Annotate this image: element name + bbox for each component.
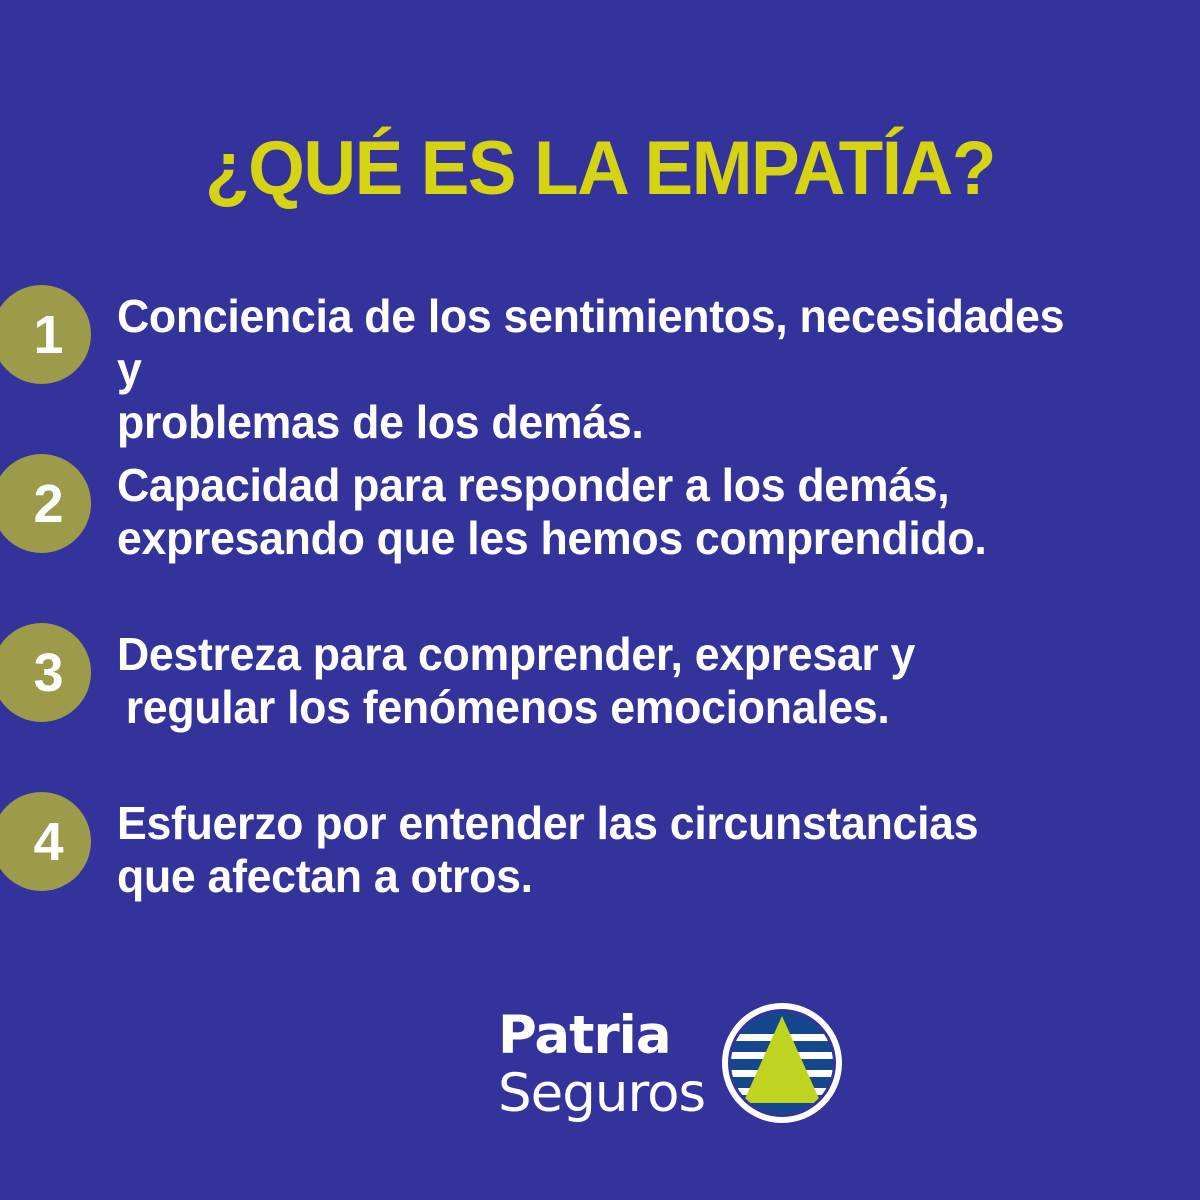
list-item: 4 Esfuerzo por entender las circunstanci… [0,771,1200,940]
list-item: 3 Destreza para comprender, expresar y r… [0,602,1200,771]
poster-canvas: ¿QUÉ ES LA EMPATÍA? 1 Conciencia de los … [0,0,1200,1200]
list-item-line2: regular los fenómenos emocionales. [117,681,1097,734]
list-item-number-badge: 3 [0,623,91,722]
list-item-line2: que afectan a otros. [117,850,1097,903]
brand-logo: Patria Seguros [498,1002,843,1124]
brand-wordmark: Patria Seguros [498,1003,705,1123]
list-item-text: Conciencia de los sentimientos, necesida… [117,290,1097,449]
patria-triangle-emblem-icon [721,1002,843,1124]
list-item-line1: Capacidad para responder a los demás, [117,459,949,511]
list-item-line1: Esfuerzo por entender las circunstancias [117,797,978,849]
list-item-line2: expresando que les hemos comprendido. [117,512,1097,565]
list-item-number-badge: 1 [0,285,91,384]
empathy-list: 1 Conciencia de los sentimientos, necesi… [0,264,1200,940]
list-item-text: Esfuerzo por entender las circunstancias… [117,797,1097,903]
list-item-line1: Conciencia de los sentimientos, necesida… [117,290,1064,395]
list-item: 2 Capacidad para responder a los demás, … [0,433,1200,602]
list-item-line1: Destreza para comprender, expresar y [117,628,915,680]
list-item-number-badge: 4 [0,792,91,891]
page-title: ¿QUÉ ES LA EMPATÍA? [24,126,1176,212]
brand-name-line2: Seguros [498,1065,705,1123]
list-item-text: Capacidad para responder a los demás, ex… [117,459,1097,565]
list-item: 1 Conciencia de los sentimientos, necesi… [0,264,1200,433]
brand-name-line1: Patria [498,1007,705,1065]
list-item-text: Destreza para comprender, expresar y reg… [117,628,1097,734]
list-item-number-badge: 2 [0,454,91,553]
